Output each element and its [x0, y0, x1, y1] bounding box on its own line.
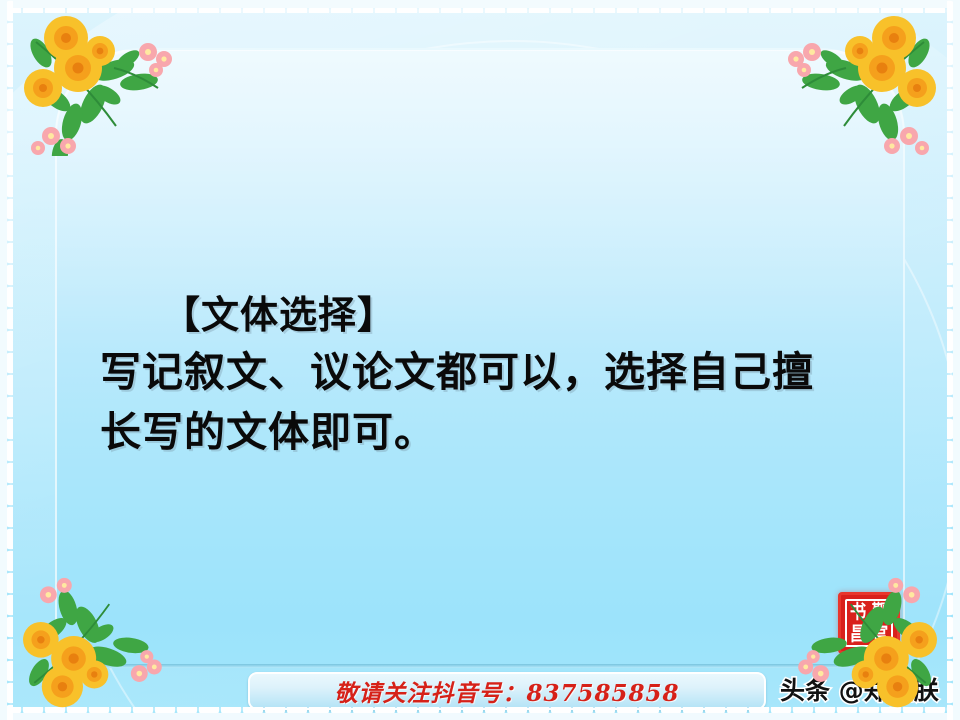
red-seal-stamp: 觐 书 官 昌	[838, 592, 900, 654]
body-line-2: 长写的文体即可。	[100, 402, 860, 462]
seal-character-4: 昌	[849, 623, 868, 645]
toutiao-watermark: 头条 @郑是朕	[780, 672, 939, 710]
douyin-promo-text: 敬请关注抖音号：837585858	[334, 674, 679, 708]
seal-inner-frame: 觐 书 官 昌	[845, 599, 893, 647]
panel-bottom-edge	[57, 664, 903, 668]
section-heading: 【文体选择】	[100, 288, 860, 342]
body-text-block: 【文体选择】 写记叙文、议论文都可以，选择自己擅 长写的文体即可。	[100, 288, 860, 462]
body-line-1: 写记叙文、议论文都可以，选择自己擅	[100, 342, 860, 402]
seal-character-1: 觐	[871, 601, 890, 623]
seal-character-2: 书	[849, 601, 868, 623]
slide-canvas: 【文体选择】 写记叙文、议论文都可以，选择自己擅 长写的文体即可。 觐 书 官 …	[0, 0, 960, 720]
seal-character-3: 官	[871, 623, 890, 645]
douyin-promo-banner: 敬请关注抖音号：837585858	[248, 672, 766, 710]
